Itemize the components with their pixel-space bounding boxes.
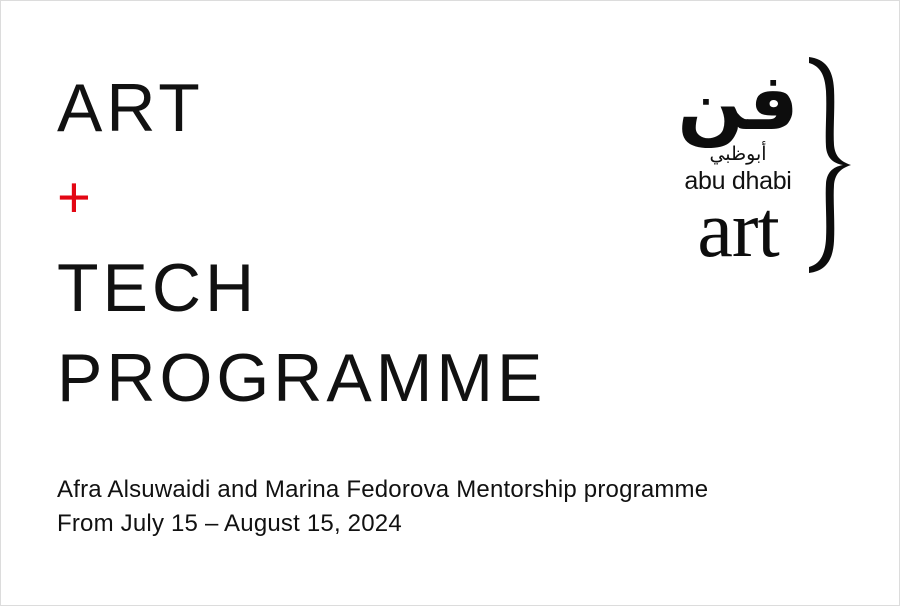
headline-block: ART + TECH PROGRAMME [57,63,657,423]
subtitle-line-participants: Afra Alsuwaidi and Marina Fedorova Mento… [57,473,857,507]
headline-plus-symbol: + [57,153,657,243]
subtitle-block: Afra Alsuwaidi and Marina Fedorova Mento… [57,473,857,541]
logo-text-stack: فن أبوظبي abu dhabi art [669,55,807,275]
logo-art-wordmark: art [669,187,807,273]
subtitle-line-dates: From July 15 – August 15, 2024 [57,507,857,541]
poster-canvas: ART + TECH PROGRAMME Afra Alsuwaidi and … [0,0,900,606]
abu-dhabi-art-logo: فن أبوظبي abu dhabi art [669,55,855,275]
logo-arabic-fan-text: فن [669,51,807,155]
headline-line-programme: PROGRAMME [57,333,657,423]
headline-line-art: ART [57,63,657,153]
headline-line-tech: TECH [57,243,657,333]
logo-arabic-abudhabi-text: أبوظبي [669,141,807,167]
logo-curly-brace-icon [803,55,855,275]
